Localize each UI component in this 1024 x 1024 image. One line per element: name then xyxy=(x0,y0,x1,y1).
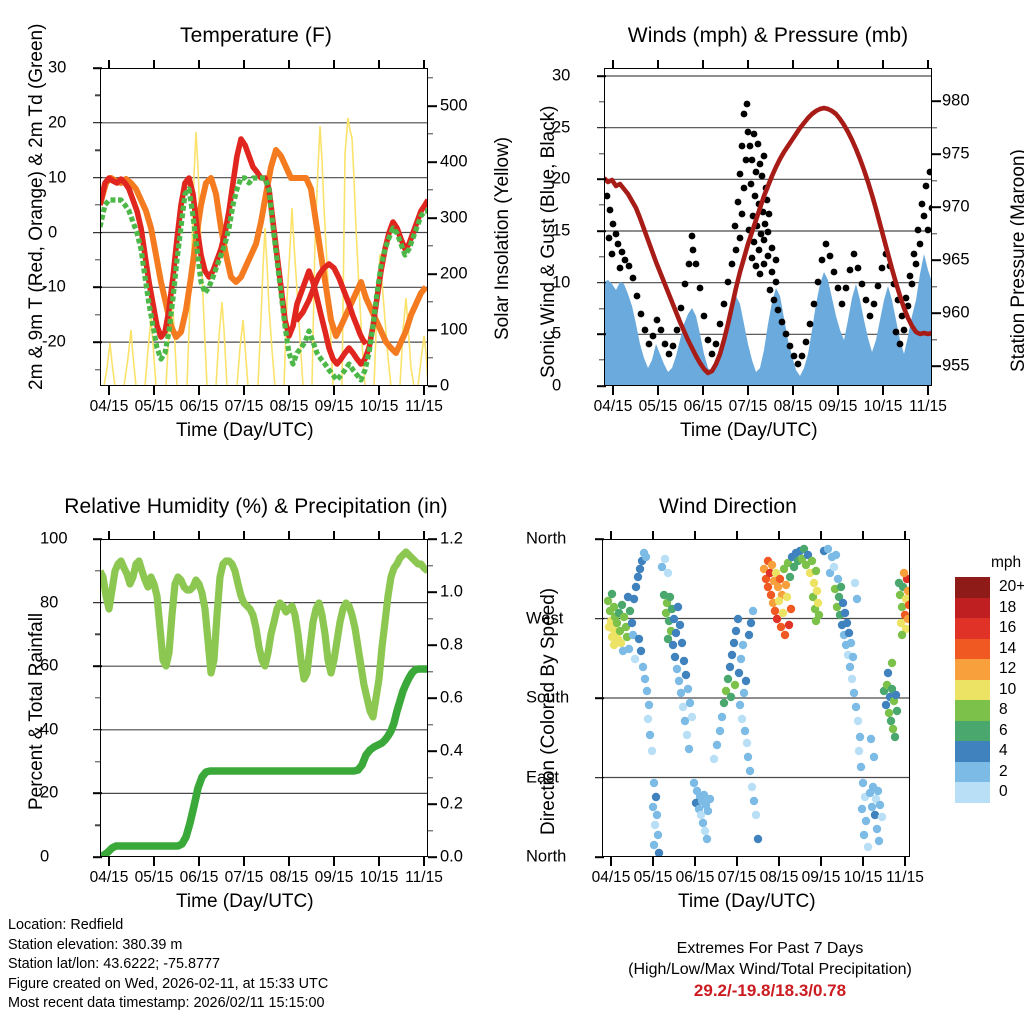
extremes-values: 29.2/-19.8/18.3/0.78 xyxy=(560,980,980,1001)
colorbar-swatch xyxy=(955,700,990,721)
humidity-title: Relative Humidity (%) & Precipitation (i… xyxy=(0,495,512,519)
winds-frame xyxy=(604,68,932,386)
colorbar-swatch xyxy=(955,782,990,803)
panel-wind-direction: Wind Direction Direction (Colored By Spe… xyxy=(512,455,1024,915)
colorbar-swatch xyxy=(955,762,990,783)
wind-direction-plot-area xyxy=(602,539,910,857)
colorbar-tick-label: 0 xyxy=(999,784,1008,800)
colorbar-tick-label: 12 xyxy=(999,661,1016,677)
temperature-title: Temperature (F) xyxy=(0,24,512,48)
humidity-frame xyxy=(100,539,428,857)
colorbar-tick-label: 4 xyxy=(999,743,1008,759)
wind-speed-colorbar: mph 20+ 18 16 14 12 10 8 6 4 2 0 xyxy=(955,577,990,803)
pressure-axis-label: Station Pressure (Maroon) xyxy=(1008,149,1024,372)
colorbar-tick-label: 8 xyxy=(999,702,1008,718)
temperature-frame xyxy=(100,68,428,386)
extremes-subtitle: (High/Low/Max Wind/Total Precipitation) xyxy=(560,959,980,980)
winds-title: Winds (mph) & Pressure (mb) xyxy=(512,24,1024,48)
panel-winds-pressure: Winds (mph) & Pressure (mb) Sonic Wind &… xyxy=(512,0,1024,455)
figure-created-line: Figure created on Wed, 2026-02-11, at 15… xyxy=(8,975,328,995)
colorbar-tick-label: 16 xyxy=(999,620,1016,636)
winds-x-axis-label: Time (Day/UTC) xyxy=(680,420,818,442)
wind-direction-x-axis-label: Time (Day/UTC) xyxy=(678,891,816,913)
location-line: Location: Redfield xyxy=(8,916,328,936)
humidity-y-axis-label: Percent & Total Rainfall xyxy=(26,613,48,810)
humidity-plot-area xyxy=(100,539,428,857)
colorbar-swatch xyxy=(955,639,990,660)
colorbar-swatch xyxy=(955,598,990,619)
panel-temperature: Temperature (F) 2m & 9m T (Red, Orange) … xyxy=(0,0,512,455)
panel-humidity-precip: Relative Humidity (%) & Precipitation (i… xyxy=(0,455,512,915)
temperature-plot-area xyxy=(100,68,428,386)
colorbar-swatch xyxy=(955,659,990,680)
colorbar-tick-label: 6 xyxy=(999,723,1008,739)
colorbar-swatch xyxy=(955,721,990,742)
colorbar-tick-label: 14 xyxy=(999,641,1016,657)
colorbar-swatch xyxy=(955,680,990,701)
winds-plot-area xyxy=(604,68,932,386)
colorbar-tick-label: 18 xyxy=(999,600,1016,616)
colorbar-swatch xyxy=(955,741,990,762)
data-timestamp-line: Most recent data timestamp: 2026/02/11 1… xyxy=(8,994,328,1014)
wind-direction-title: Wind Direction xyxy=(472,495,984,519)
humidity-x-axis-label: Time (Day/UTC) xyxy=(176,891,314,913)
wind-direction-frame xyxy=(602,539,910,857)
temperature-x-axis-label: Time (Day/UTC) xyxy=(176,420,314,442)
colorbar-tick-label: 2 xyxy=(999,764,1008,780)
extremes-title: Extremes For Past 7 Days xyxy=(560,938,980,959)
colorbar-tick-label: 10 xyxy=(999,682,1016,698)
station-metadata: Location: Redfield Station elevation: 38… xyxy=(8,916,328,1014)
colorbar-tick-label: 20+ xyxy=(999,579,1024,595)
colorbar-swatch xyxy=(955,577,990,598)
latlon-line: Station lat/lon: 43.6222; -75.8777 xyxy=(8,955,328,975)
elevation-line: Station elevation: 380.39 m xyxy=(8,936,328,956)
extremes-summary: Extremes For Past 7 Days (High/Low/Max W… xyxy=(560,938,980,1001)
colorbar-swatch xyxy=(955,618,990,639)
colorbar-title: mph xyxy=(991,555,1021,571)
